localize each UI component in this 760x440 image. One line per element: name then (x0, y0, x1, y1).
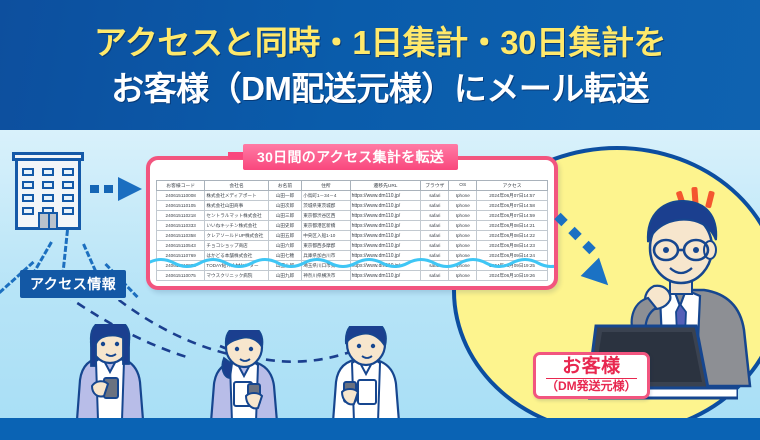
person-smartphone-icon (204, 330, 282, 422)
table-cell: Iphone (449, 201, 477, 211)
table-col-header-5: ブラウザ (421, 181, 449, 191)
table-cell: safari (421, 201, 449, 211)
table-header-row: お客様コード会社名お名前住所遷移先URLブラウザOSアクセス (157, 181, 548, 191)
table-cell: 山田五郎 (268, 231, 302, 241)
table-cell: 山田一郎 (268, 191, 302, 201)
table-cell: いいねキッチン株式会社 (205, 221, 268, 231)
table-cell: 東京都渋谷区西 (302, 211, 350, 221)
table-cell: 2024年06月07日14:57 (477, 191, 548, 201)
table-cell: 240615110218 (157, 211, 205, 221)
person-smartphone-icon (326, 326, 404, 422)
table-cell: 山田六郎 (268, 241, 302, 251)
customer-label-box: お客様 （DM発送元様） (533, 352, 650, 399)
table-row: 240615110075マウスクリニック病院山田九郎神奈川県横浜市https:/… (157, 271, 548, 281)
table-cell: 中央区入船1-10 (302, 231, 350, 241)
table-row: 240615110105株式会社山田商事山田次郎茨城県東茨城郡https://w… (157, 201, 548, 211)
table-cell: 小鳥町1－34－4 (302, 191, 350, 201)
table-cell: Iphone (449, 241, 477, 251)
header-title-line1: アクセスと同時・1日集計・30日集計を (0, 16, 760, 64)
table-cell: 東京都港区新橋 (302, 221, 350, 231)
table-cell: 東京都西多摩郡 (302, 241, 350, 251)
table-cell: チョコショップ商店 (205, 241, 268, 251)
table-cell: 神奈川県横浜市 (302, 271, 350, 281)
table-cell: 2024年06月08日14:22 (477, 231, 548, 241)
table-cell: https://www.dm110.jp/ (350, 201, 421, 211)
table-cell: 2024年06月10日19:26 (477, 271, 548, 281)
table-cell: Iphone (449, 221, 477, 231)
table-row: 240615110333いいねキッチン株式会社山田史郎東京都港区新橋https:… (157, 221, 548, 231)
header-banner: アクセスと同時・1日集計・30日集計を お客様（DM配送元様）にメール転送 (0, 0, 760, 130)
table-row: 240615110218セントラルマット株式会社山田三郎東京都渋谷区西https… (157, 211, 548, 221)
table-cell: https://www.dm110.jp/ (350, 221, 421, 231)
table-col-header-4: 遷移先URL (350, 181, 421, 191)
table-cell: 株式会社山田商事 (205, 201, 268, 211)
table-cell: 山田史郎 (268, 221, 302, 231)
table-cell: 240615110543 (157, 241, 205, 251)
wave-cutoff-decoration (148, 256, 558, 268)
table-cell: Iphone (449, 231, 477, 241)
person-smartphone-icon (70, 324, 148, 420)
table-cell: 2024年06月07日14:59 (477, 211, 548, 221)
table-col-header-1: 会社名 (205, 181, 268, 191)
table-cell: Iphone (449, 191, 477, 201)
table-cell: 山田九郎 (268, 271, 302, 281)
table-col-header-7: アクセス (477, 181, 548, 191)
table-cell: セントラルマット株式会社 (205, 211, 268, 221)
table-cell: safari (421, 191, 449, 201)
table-cell: https://www.dm110.jp/ (350, 191, 421, 201)
table-cell: 240615110075 (157, 271, 205, 281)
table-cell: 240615110008 (157, 191, 205, 201)
table-row: 240615110543チョコショップ商店山田六郎東京都西多摩郡https://… (157, 241, 548, 251)
table-cell: 茨城県東茨城郡 (302, 201, 350, 211)
table-cell: 2024年06月07日14:58 (477, 201, 548, 211)
table-cell: safari (421, 211, 449, 221)
card-banner-title: 30日間のアクセス集計を転送 (243, 144, 458, 170)
customer-label-sub: （DM発送元様） (546, 380, 637, 393)
table-cell: Iphone (449, 271, 477, 281)
table-cell: 山田三郎 (268, 211, 302, 221)
table-cell: クレアソールドUP株式会社 (205, 231, 268, 241)
header-title-line2: お客様（DM配送元様）にメール転送 (0, 62, 760, 110)
table-cell: https://www.dm110.jp/ (350, 231, 421, 241)
table-col-header-6: OS (449, 181, 477, 191)
table-col-header-3: 住所 (302, 181, 350, 191)
table-cell: マウスクリニック病院 (205, 271, 268, 281)
table-cell: 株式会社メディアポート (205, 191, 268, 201)
table-cell: https://www.dm110.jp/ (350, 241, 421, 251)
table-cell: 山田次郎 (268, 201, 302, 211)
table-cell: 240615110105 (157, 201, 205, 211)
table-cell: 240615110333 (157, 221, 205, 231)
table-cell: safari (421, 271, 449, 281)
table-cell: 2024年06月08日14:21 (477, 221, 548, 231)
infographic-root: アクセスと同時・1日集計・30日集計を お客様（DM配送元様）にメール転送 (0, 0, 760, 440)
arrow-right-icon (90, 177, 144, 201)
table-col-header-2: お名前 (268, 181, 302, 191)
table-cell: safari (421, 241, 449, 251)
people-group (70, 300, 450, 420)
access-info-label: アクセス情報 (20, 270, 126, 298)
table-row: 240615110008株式会社メディアポート山田一郎小鳥町1－34－4http… (157, 191, 548, 201)
office-building-icon (12, 152, 84, 236)
table-cell: 240615110358 (157, 231, 205, 241)
table-col-header-0: お客様コード (157, 181, 205, 191)
table-cell: https://www.dm110.jp/ (350, 211, 421, 221)
table-row: 240615110358クレアソールドUP株式会社山田五郎中央区入船1-10ht… (157, 231, 548, 241)
footer-bar (0, 418, 760, 440)
table-cell: 2024年06月08日14:23 (477, 241, 548, 251)
access-report-card: お客様コード会社名お名前住所遷移先URLブラウザOSアクセス 240615110… (146, 156, 558, 290)
table-cell: https://www.dm110.jp/ (350, 271, 421, 281)
table-cell: safari (421, 231, 449, 241)
table-cell: safari (421, 221, 449, 231)
table-cell: Iphone (449, 211, 477, 221)
customer-label-main: お客様 (546, 357, 637, 377)
